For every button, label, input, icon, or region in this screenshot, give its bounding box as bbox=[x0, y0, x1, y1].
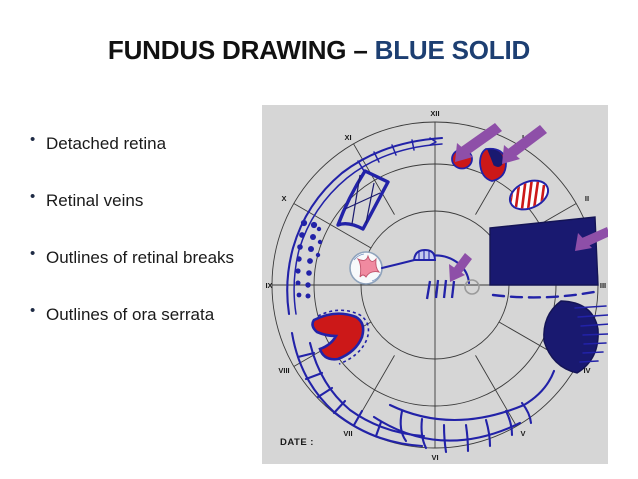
detached-retina-sector-upper bbox=[490, 217, 598, 285]
hour-5: V bbox=[520, 429, 525, 438]
horseshoe-tear-break bbox=[480, 149, 506, 181]
fundus-chart-panel: XII I II III IV V VI VII VIII IX X XI bbox=[262, 105, 608, 464]
hour-2: II bbox=[585, 194, 589, 203]
solid-blue-wedge-upper bbox=[490, 217, 598, 285]
hour-7: VII bbox=[343, 429, 352, 438]
list-item-label: Detached retina bbox=[46, 128, 166, 159]
list-item-label: Outlines of ora serrata bbox=[46, 299, 214, 330]
hour-6: VI bbox=[431, 453, 438, 462]
ora-band-right-join bbox=[524, 371, 554, 405]
solid-blue-lobe-lower bbox=[544, 301, 598, 373]
hour-9: IX bbox=[265, 281, 272, 290]
list-item-label: Retinal veins bbox=[46, 185, 143, 216]
giant-break-shape bbox=[313, 314, 364, 360]
arrow-to-horseshoe-tear bbox=[502, 125, 547, 164]
hour-8: VIII bbox=[278, 366, 289, 375]
fundus-chart-diagram: XII I II III IV V VI VII VIII IX X XI bbox=[262, 105, 608, 464]
page-title: FUNDUS DRAWING – BLUE SOLID bbox=[0, 36, 638, 65]
detached-retina-sector-lower bbox=[544, 301, 608, 373]
hour-12: XII bbox=[430, 109, 439, 118]
giant-retinal-break bbox=[313, 310, 369, 364]
ora-teeth-left bbox=[298, 353, 381, 436]
list-item-label: Outlines of retinal breaks bbox=[46, 242, 234, 273]
ora-band-bottom-inner bbox=[390, 405, 524, 420]
bullet-marker-icon: • bbox=[30, 299, 46, 323]
vein-tick-marks bbox=[427, 280, 454, 299]
arc-tick-marks bbox=[358, 138, 436, 171]
list-item: • Outlines of ora serrata bbox=[30, 299, 255, 330]
optic-disc-group bbox=[350, 252, 382, 284]
page-title-black-part: FUNDUS DRAWING – bbox=[108, 35, 368, 65]
macula-circle bbox=[465, 280, 479, 294]
lattice-degeneration-striped bbox=[505, 175, 552, 215]
bullet-marker-icon: • bbox=[30, 128, 46, 152]
bullet-marker-icon: • bbox=[30, 242, 46, 266]
list-item: • Retinal veins bbox=[30, 185, 255, 216]
hour-3: III bbox=[600, 281, 606, 290]
date-label: DATE : bbox=[280, 437, 314, 448]
bullet-marker-icon: • bbox=[30, 185, 46, 209]
page-title-blue-part: BLUE SOLID bbox=[375, 35, 530, 65]
list-item: • Detached retina bbox=[30, 128, 255, 159]
hour-10: X bbox=[281, 194, 286, 203]
bullet-list: • Detached retina • Retinal veins • Outl… bbox=[30, 128, 255, 356]
list-item: • Outlines of retinal breaks bbox=[30, 242, 255, 273]
hour-11: XI bbox=[344, 133, 351, 142]
